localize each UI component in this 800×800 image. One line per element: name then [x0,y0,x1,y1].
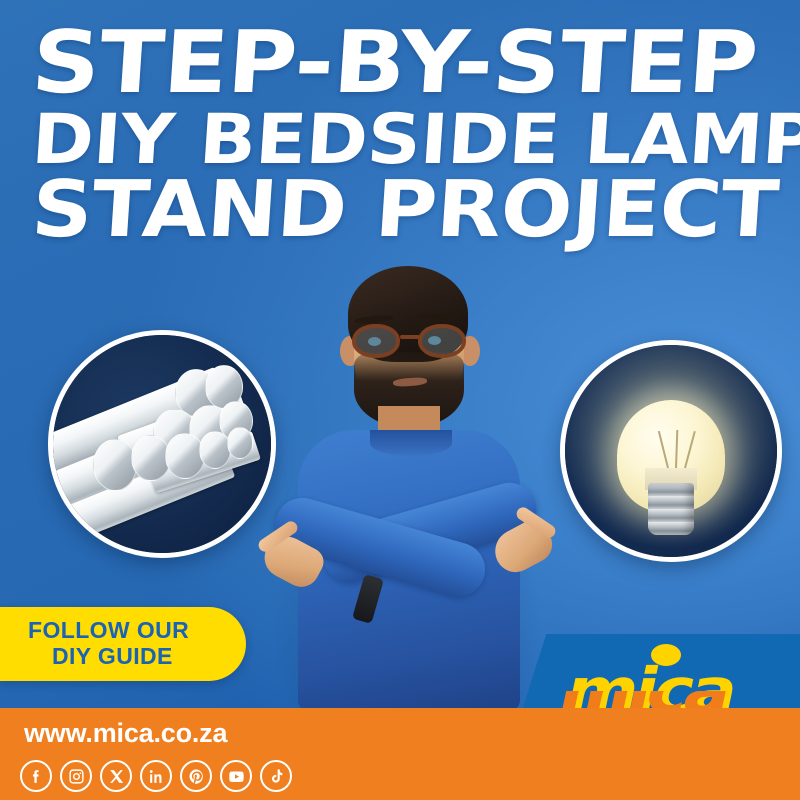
social-links [20,760,292,792]
tiktok-icon[interactable] [260,760,292,792]
linkedin-icon[interactable] [140,760,172,792]
website-url[interactable]: www.mica.co.za [24,718,227,749]
cta-line-1: FOLLOW OUR [28,618,246,644]
cta-line-2: DIY GUIDE [52,644,246,670]
x-twitter-icon[interactable] [100,760,132,792]
glasses-bridge [400,335,420,339]
light-bulb-photo [565,345,777,557]
instagram-icon[interactable] [60,760,92,792]
eyeglasses [348,324,472,358]
facebook-icon[interactable] [20,760,52,792]
headline-line-2: DIY BEDSIDE LAMP [30,110,800,171]
bulb-screw-base [648,483,694,535]
footer-bar: www.mica.co.za [0,708,800,800]
lens [352,324,400,358]
headline-line-1: STEP-BY-STEP [29,26,800,102]
pvc-pipes-photo [53,335,271,553]
sweater-collar [370,430,452,456]
pipe-opening [93,439,137,491]
pipe-opening [199,431,231,469]
youtube-icon[interactable] [220,760,252,792]
pipe-opening [227,427,253,459]
mica-wordmark: mica mica [567,648,767,710]
lens [418,324,466,358]
page-title: STEP-BY-STEP DIY BEDSIDE LAMP STAND PROJ… [28,26,772,245]
pinterest-icon[interactable] [180,760,212,792]
mica-diy-promo-poster: STEP-BY-STEP DIY BEDSIDE LAMP STAND PROJ… [0,0,800,800]
follow-guide-banner[interactable]: FOLLOW OUR DIY GUIDE [0,607,246,681]
light-bulb-badge [560,340,782,562]
headline-line-3: STAND PROJECT [30,176,800,245]
pvc-pipes-badge [48,330,276,558]
